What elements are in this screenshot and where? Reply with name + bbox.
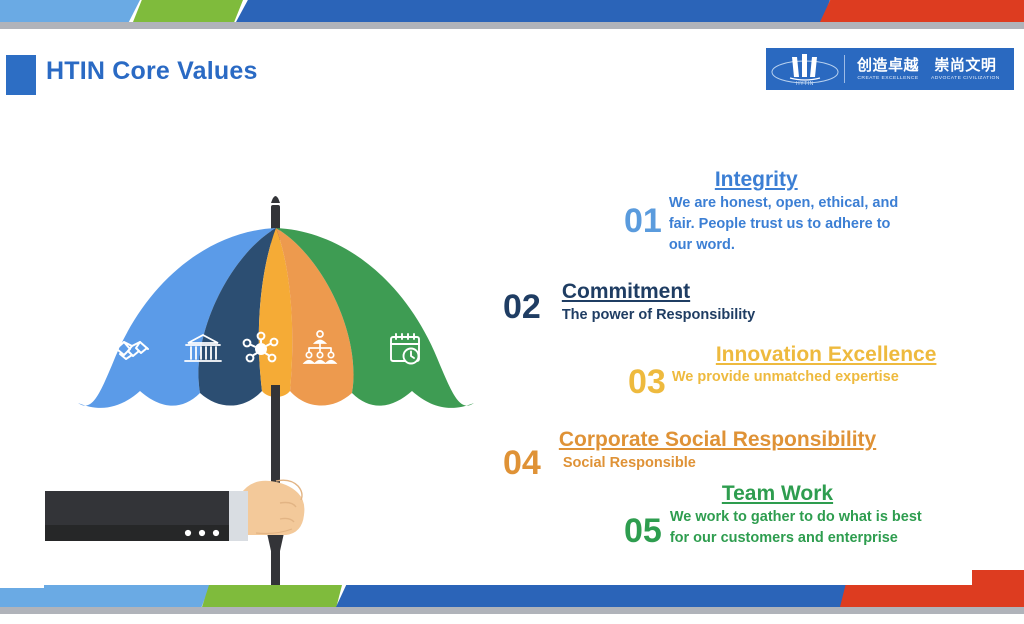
htin-logo: HYTIN 创造卓越 CREATE EXCELLENCE 崇尚文明 ADVOCA… [766, 48, 1014, 90]
value-item-team-work: 05 Team Work We work to gather to do wha… [624, 482, 932, 549]
page-title: HTIN Core Values [46, 57, 258, 86]
hand-gripping-handle [240, 480, 304, 535]
value-heading-team-work: Team Work [722, 482, 932, 506]
value-heading-integrity: Integrity [715, 168, 913, 192]
value-heading-corporate-social-responsibility: Corporate Social Responsibility [559, 428, 876, 452]
bottom-left-white-notch [0, 578, 44, 588]
logo-divider [844, 55, 845, 83]
bottom-decor-band-strip [0, 585, 1024, 607]
value-text-01: Integrity We are honest, open, ethical, … [669, 168, 913, 256]
bottom-band-light-blue [0, 585, 210, 607]
logo-slogan-cn-2: 崇尚文明 [934, 58, 996, 73]
value-heading-innovation-excellence: Innovation Excellence [716, 343, 937, 367]
value-description-integrity: We are honest, open, ethical, and fair. … [669, 193, 913, 256]
top-band-green [133, 0, 243, 22]
umbrella-handle-cap [267, 533, 284, 554]
bottom-band-shadow [0, 607, 1024, 614]
logo-slogan-advocate-civilization: 崇尚文明 ADVOCATE CIVILIZATION [931, 58, 1000, 81]
value-number-01: 01 [624, 204, 662, 238]
value-number-04: 04 [503, 446, 541, 480]
sleeve-button [199, 530, 205, 536]
value-item-innovation-excellence: 03 Innovation Excellence We provide unma… [628, 343, 936, 399]
value-item-integrity: 01 Integrity We are honest, open, ethica… [624, 168, 913, 256]
value-text-05: Team Work We work to gather to do what i… [670, 482, 932, 549]
value-text-03: Innovation Excellence We provide unmatch… [672, 343, 937, 388]
bottom-band-red [840, 585, 1024, 607]
umbrella-tip [271, 196, 280, 203]
shirt-cuff [226, 491, 248, 541]
top-band-blue [236, 0, 830, 22]
slide-canvas: HTIN Core Values HYTIN 创造卓越 CREATE EXCEL… [0, 0, 1024, 624]
value-number-02: 02 [503, 290, 541, 324]
logo-slogan-en-2: ADVOCATE CIVILIZATION [931, 76, 1000, 81]
value-number-05: 05 [624, 514, 662, 548]
value-description-innovation-excellence: We provide unmatched expertise [672, 367, 937, 388]
value-number-03: 03 [628, 365, 666, 399]
hand-holding-umbrella-illustration [40, 185, 510, 595]
bottom-right-red-tab [972, 570, 1024, 588]
value-item-commitment: 02 Commitment The power of Responsibilit… [503, 280, 755, 326]
svg-text:HYTIN: HYTIN [796, 81, 814, 87]
sleeve-button [185, 530, 191, 536]
sleeve-button [213, 530, 219, 536]
value-text-04: Corporate Social Responsibility Social R… [559, 428, 876, 474]
value-description-corporate-social-responsibility: Social Responsible [563, 453, 876, 474]
top-decor-band-strip [0, 0, 1024, 22]
title-accent-square [6, 55, 36, 95]
value-description-team-work: We work to gather to do what is best for… [670, 507, 932, 549]
logo-slogan-cn-1: 创造卓越 [857, 58, 919, 73]
bottom-band-blue [336, 585, 846, 607]
top-band-light-blue [0, 0, 140, 22]
logo-slogan-create-excellence: 创造卓越 CREATE EXCELLENCE [857, 58, 919, 81]
value-text-02: Commitment The power of Responsibility [562, 280, 755, 326]
bottom-band-green [202, 585, 342, 607]
logo-slogan-en-1: CREATE EXCELLENCE [857, 76, 918, 81]
value-item-corporate-social-responsibility: 04 Corporate Social Responsibility Socia… [503, 428, 876, 480]
top-band-shadow [0, 22, 1024, 29]
htin-logo-mark-icon: HYTIN [766, 48, 844, 90]
top-band-red [820, 0, 1024, 22]
value-heading-commitment: Commitment [562, 280, 755, 304]
value-description-commitment: The power of Responsibility [562, 305, 755, 326]
